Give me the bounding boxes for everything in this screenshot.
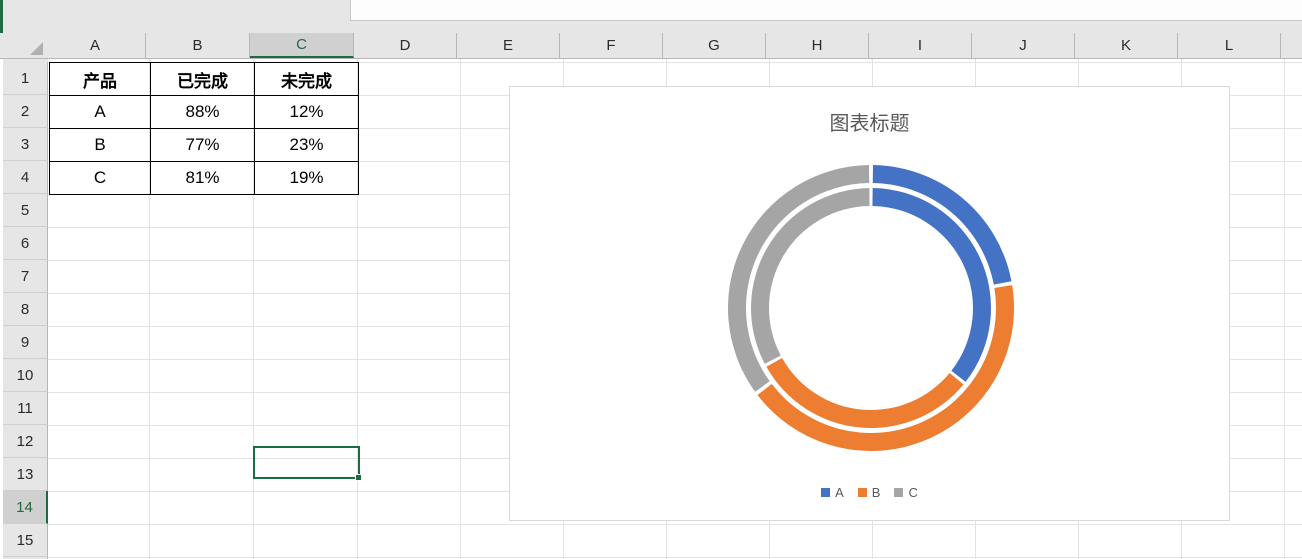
legend-item-c[interactable]: C	[894, 485, 917, 500]
row-header-15[interactable]: 15	[3, 524, 48, 557]
table-cell[interactable]: 19%	[255, 162, 359, 195]
table-header-cell[interactable]: 已完成	[151, 63, 255, 96]
row-header-3[interactable]: 3	[3, 128, 48, 161]
select-all-triangle-icon	[30, 42, 43, 55]
column-header-g[interactable]: G	[663, 33, 766, 58]
table-cell[interactable]: 88%	[151, 96, 255, 129]
gridline-vertical	[460, 59, 461, 559]
table-cell[interactable]: 77%	[151, 129, 255, 162]
legend-label: B	[872, 485, 881, 500]
table-row: A88%12%	[50, 96, 359, 129]
column-header-row: ABCDEFGHIJKL	[0, 33, 1302, 59]
row-header-7[interactable]: 7	[3, 260, 48, 293]
column-header-d[interactable]: D	[354, 33, 457, 58]
excel-window: ABCDEFGHIJKL 1234567891011121314151617 产…	[0, 0, 1302, 559]
legend-item-a[interactable]: A	[821, 485, 844, 500]
doughnut-chart-svg	[510, 87, 1231, 522]
table-cell[interactable]: 81%	[151, 162, 255, 195]
chart-legend[interactable]: ABC	[510, 485, 1229, 500]
table-cell[interactable]: C	[50, 162, 151, 195]
row-header-1[interactable]: 1	[3, 62, 48, 95]
table-header-cell[interactable]: 产品	[50, 63, 151, 96]
column-header-c[interactable]: C	[250, 33, 354, 58]
column-header-j[interactable]: J	[972, 33, 1075, 58]
column-header-a[interactable]: A	[45, 33, 146, 58]
gridline-horizontal	[48, 557, 1302, 558]
table-row: B77%23%	[50, 129, 359, 162]
legend-swatch-icon	[894, 488, 903, 497]
legend-item-b[interactable]: B	[858, 485, 881, 500]
row-header-6[interactable]: 6	[3, 227, 48, 260]
column-header-h[interactable]: H	[766, 33, 869, 58]
table-cell[interactable]: 23%	[255, 129, 359, 162]
row-header-13[interactable]: 13	[3, 458, 48, 491]
legend-label: A	[835, 485, 844, 500]
row-header-5[interactable]: 5	[3, 194, 48, 227]
legend-label: C	[908, 485, 917, 500]
row-header-2[interactable]: 2	[3, 95, 48, 128]
table-header-row: 产品已完成未完成	[50, 63, 359, 96]
column-header-e[interactable]: E	[457, 33, 560, 58]
window-left-accent	[0, 0, 3, 33]
column-header-l[interactable]: L	[1178, 33, 1281, 58]
row-header-11[interactable]: 11	[3, 392, 48, 425]
formula-bar-area	[0, 0, 1302, 33]
gridline-horizontal	[48, 524, 1302, 525]
table-cell[interactable]: A	[50, 96, 151, 129]
select-all-corner[interactable]	[3, 33, 48, 58]
chart-object[interactable]: 图表标题 ABC	[509, 86, 1230, 521]
fill-handle[interactable]	[355, 474, 362, 481]
data-table[interactable]: 产品已完成未完成A88%12%B77%23%C81%19%	[49, 62, 359, 195]
row-header-8[interactable]: 8	[3, 293, 48, 326]
table-row: C81%19%	[50, 162, 359, 195]
formula-bar-input[interactable]	[350, 0, 1302, 21]
table-cell[interactable]: 12%	[255, 96, 359, 129]
column-header-b[interactable]: B	[146, 33, 250, 58]
row-header-12[interactable]: 12	[3, 425, 48, 458]
row-header-9[interactable]: 9	[3, 326, 48, 359]
gridline-vertical	[1284, 59, 1285, 559]
column-header-k[interactable]: K	[1075, 33, 1178, 58]
legend-swatch-icon	[858, 488, 867, 497]
table-header-cell[interactable]: 未完成	[255, 63, 359, 96]
row-header-column: 1234567891011121314151617	[3, 59, 48, 559]
legend-swatch-icon	[821, 488, 830, 497]
row-header-4[interactable]: 4	[3, 161, 48, 194]
column-header-f[interactable]: F	[560, 33, 663, 58]
table-cell[interactable]: B	[50, 129, 151, 162]
column-header-i[interactable]: I	[869, 33, 972, 58]
row-header-10[interactable]: 10	[3, 359, 48, 392]
selected-cell-c14[interactable]	[253, 446, 360, 479]
row-header-14[interactable]: 14	[3, 491, 48, 524]
doughnut-plot-area[interactable]	[510, 87, 1229, 520]
